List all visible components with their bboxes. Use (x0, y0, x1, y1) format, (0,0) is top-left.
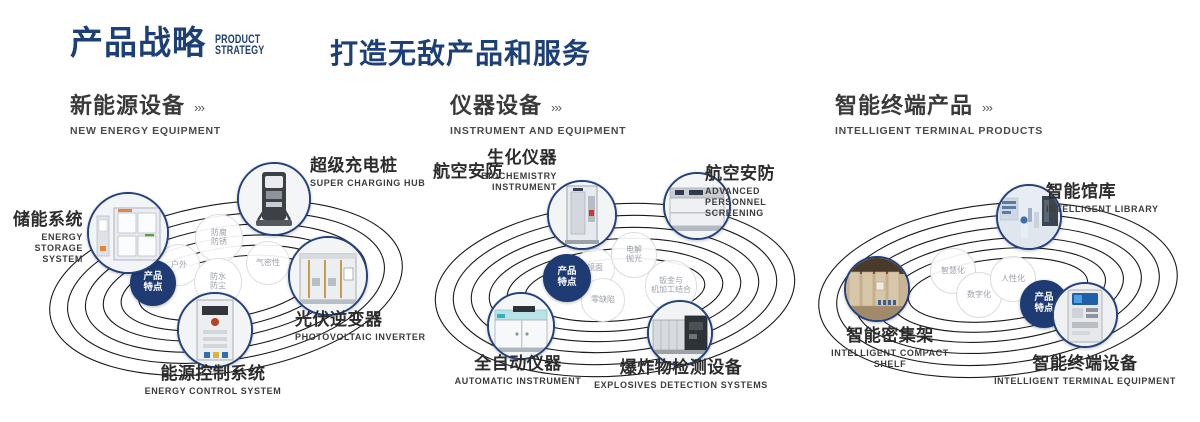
label-intelligent-library: 智能馆库 INTELLIGENT LIBRARY (1046, 184, 1159, 215)
section-heading-en: INTELLIGENT TERMINAL PRODUCTS (835, 125, 1043, 137)
section-heading-instrument: 仪器设备 ››› INSTRUMENT AND EQUIPMENT (450, 96, 626, 137)
section-heading-cn: 仪器设备 (450, 96, 542, 118)
node-intelligent-terminal-equipment[interactable] (1052, 282, 1118, 348)
cluster-instrument-and-equipment: 镜面 电解 抛光 零缺陷 钣金与 机加工结合 产品 特点 航空安防 (415, 160, 815, 420)
node-intelligent-compact-shelf[interactable] (844, 256, 910, 322)
label-explosives-detection-systems: 爆炸物检测设备 EXPLOSIVES DETECTION SYSTEMS (573, 360, 789, 391)
label-biochemistry-instrument: 生化仪器 BIOCHEMISTRY INSTRUMENT (409, 150, 557, 193)
explosive-detector-icon (649, 302, 711, 364)
node-explosives-detection-systems[interactable] (647, 300, 713, 366)
cluster-intelligent-terminal-products: 智慧化 数字化 人性化 产品 特点 (800, 160, 1200, 420)
section-heading-en: NEW ENERGY EQUIPMENT (70, 125, 221, 137)
feature-chip: 气密性 (246, 241, 290, 285)
chevron-right-icon: ››› (194, 101, 204, 114)
node-automatic-instrument[interactable] (487, 292, 555, 360)
cluster-new-energy-equipment: 户外 防腐 防锈 防水 防尘 气密性 产品 特点 (30, 160, 430, 420)
battery-cabinet-icon (89, 194, 167, 272)
node-biochemistry-instrument[interactable] (547, 180, 617, 250)
node-energy-storage-system[interactable] (87, 192, 169, 274)
feature-chip: 防腐 防锈 (195, 214, 243, 262)
page-title-cn: 产品战略 (70, 26, 206, 59)
label-energy-control-system: 能源控制系统 ENERGY CONTROL SYSTEM (88, 366, 338, 397)
chevron-right-icon: ››› (982, 101, 992, 114)
label-energy-storage-system: 储能系统 ENERGY STORAGE SYSTEM (0, 212, 83, 266)
inverter-cabinet-icon (290, 238, 366, 314)
product-strategy-infographic: 产品战略 PRODUCT STRATEGY 打造无敌产品和服务 新能源设备 ››… (0, 0, 1200, 422)
label-intelligent-terminal-equipment: 智能终端设备 INTELLIGENT TERMINAL EQUIPMENT (970, 356, 1200, 387)
page-subtitle: 打造无敌产品和服务 (330, 32, 591, 72)
section-heading-en: INSTRUMENT AND EQUIPMENT (450, 125, 626, 137)
automatic-analyzer-icon (489, 294, 553, 358)
label-advanced-personnel-screening: 航空安防 ADVANCED PERSONNEL SCREENING (705, 166, 815, 220)
biochemistry-scanner-icon (549, 182, 615, 248)
section-heading-cn: 新能源设备 (70, 96, 185, 118)
section-heading-new-energy: 新能源设备 ››› NEW ENERGY EQUIPMENT (70, 96, 221, 137)
chevron-right-icon: ››› (551, 101, 561, 114)
node-energy-control-system[interactable] (177, 292, 253, 368)
self-service-kiosk-icon (1054, 284, 1116, 346)
node-photovoltaic-inverter[interactable] (288, 236, 368, 316)
node-super-charging-hub[interactable] (237, 162, 311, 236)
page-title: 产品战略 PRODUCT STRATEGY (70, 26, 278, 59)
compact-shelf-icon (846, 258, 908, 320)
section-heading-intelligent-terminal: 智能终端产品 ››› INTELLIGENT TERMINAL PRODUCTS (835, 96, 1043, 137)
page-title-en: PRODUCT STRATEGY (215, 35, 264, 57)
section-heading-cn: 智能终端产品 (835, 96, 973, 118)
label-photovoltaic-inverter: 光伏逆变器 PHOTOVOLTAIC INVERTER (295, 312, 426, 343)
control-cabinet-icon (179, 294, 251, 366)
charging-pile-icon (239, 164, 309, 234)
